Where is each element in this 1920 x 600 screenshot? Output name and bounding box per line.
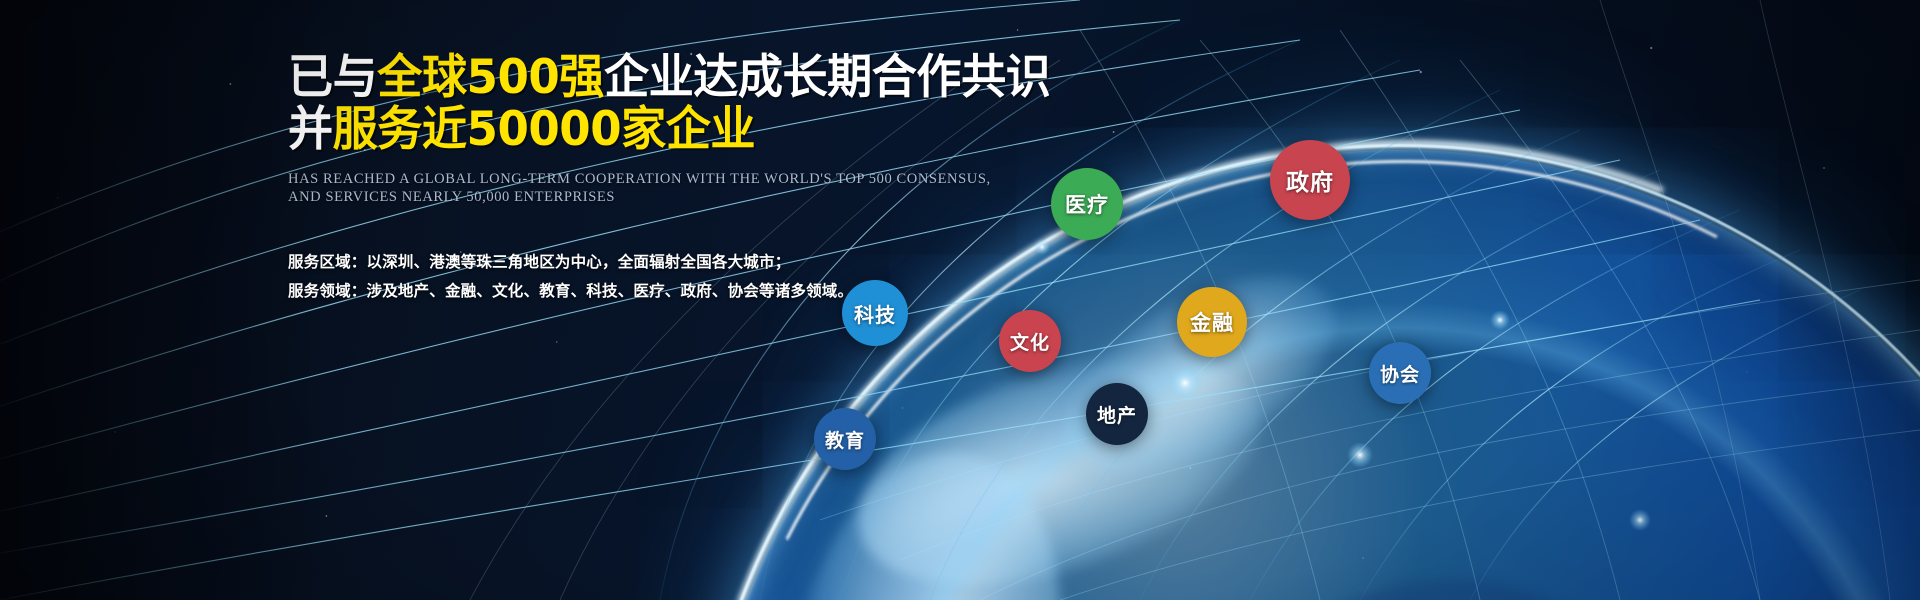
hero-banner: 已与全球500强企业达成长期合作共识 并服务近50000家企业 HAS REAC… <box>0 0 1920 600</box>
headline-seg: 已与 <box>288 50 377 105</box>
network-node-flare <box>1490 310 1510 330</box>
headline-line-2: 并服务近50000家企业 <box>288 106 1018 154</box>
service-area-line: 服务区域：以深圳、港澳等珠三角地区为中心，全面辐射全国各大城市； <box>288 248 1048 277</box>
category-bubble-label: 教育 <box>825 426 865 453</box>
category-bubble-label: 协会 <box>1380 360 1420 387</box>
network-node-flare <box>1168 366 1202 400</box>
category-bubble-政府[interactable]: 政府 <box>1270 140 1350 220</box>
headline-seg: 企业达成长期合作共识 <box>604 50 1050 105</box>
category-bubble-文化[interactable]: 文化 <box>999 310 1061 372</box>
category-bubble-地产[interactable]: 地产 <box>1086 383 1148 445</box>
english-subtitle: HAS REACHED A GLOBAL LONG-TERM COOPERATI… <box>288 170 1048 206</box>
category-bubble-label: 金融 <box>1190 307 1234 337</box>
category-bubble-协会[interactable]: 协会 <box>1369 342 1431 404</box>
network-node-flare <box>1629 509 1651 531</box>
category-bubble-医疗[interactable]: 医疗 <box>1051 168 1123 240</box>
category-bubble-label: 科技 <box>854 299 896 328</box>
category-bubble-教育[interactable]: 教育 <box>814 408 876 470</box>
service-description: 服务区域：以深圳、港澳等珠三角地区为中心，全面辐射全国各大城市； 服务领域：涉及… <box>288 248 1048 306</box>
headline-block: 已与全球500强企业达成长期合作共识 并服务近50000家企业 HAS REAC… <box>288 54 1048 306</box>
headline-seg: 并 <box>288 102 333 157</box>
category-bubble-金融[interactable]: 金融 <box>1177 287 1247 357</box>
headline-line-1: 已与全球500强企业达成长期合作共识 <box>288 54 1018 102</box>
network-node-flare <box>1347 442 1373 468</box>
category-bubble-label: 政府 <box>1286 163 1334 197</box>
category-bubble-label: 医疗 <box>1065 189 1109 219</box>
headline-seg-highlight: 全球500强 <box>377 50 604 105</box>
category-bubble-label: 地产 <box>1097 401 1137 428</box>
english-subtitle-line-1: HAS REACHED A GLOBAL LONG-TERM COOPERATI… <box>288 170 1048 188</box>
english-subtitle-line-2: AND SERVICES NEARLY 50,000 ENTERPRISES <box>288 188 1048 206</box>
headline-seg-highlight: 服务近50000家企业 <box>333 102 755 157</box>
service-field-line: 服务领域：涉及地产、金融、文化、教育、科技、医疗、政府、协会等诸多领域。 <box>288 277 1048 306</box>
category-bubble-label: 文化 <box>1010 328 1050 355</box>
category-bubble-科技[interactable]: 科技 <box>842 280 908 346</box>
